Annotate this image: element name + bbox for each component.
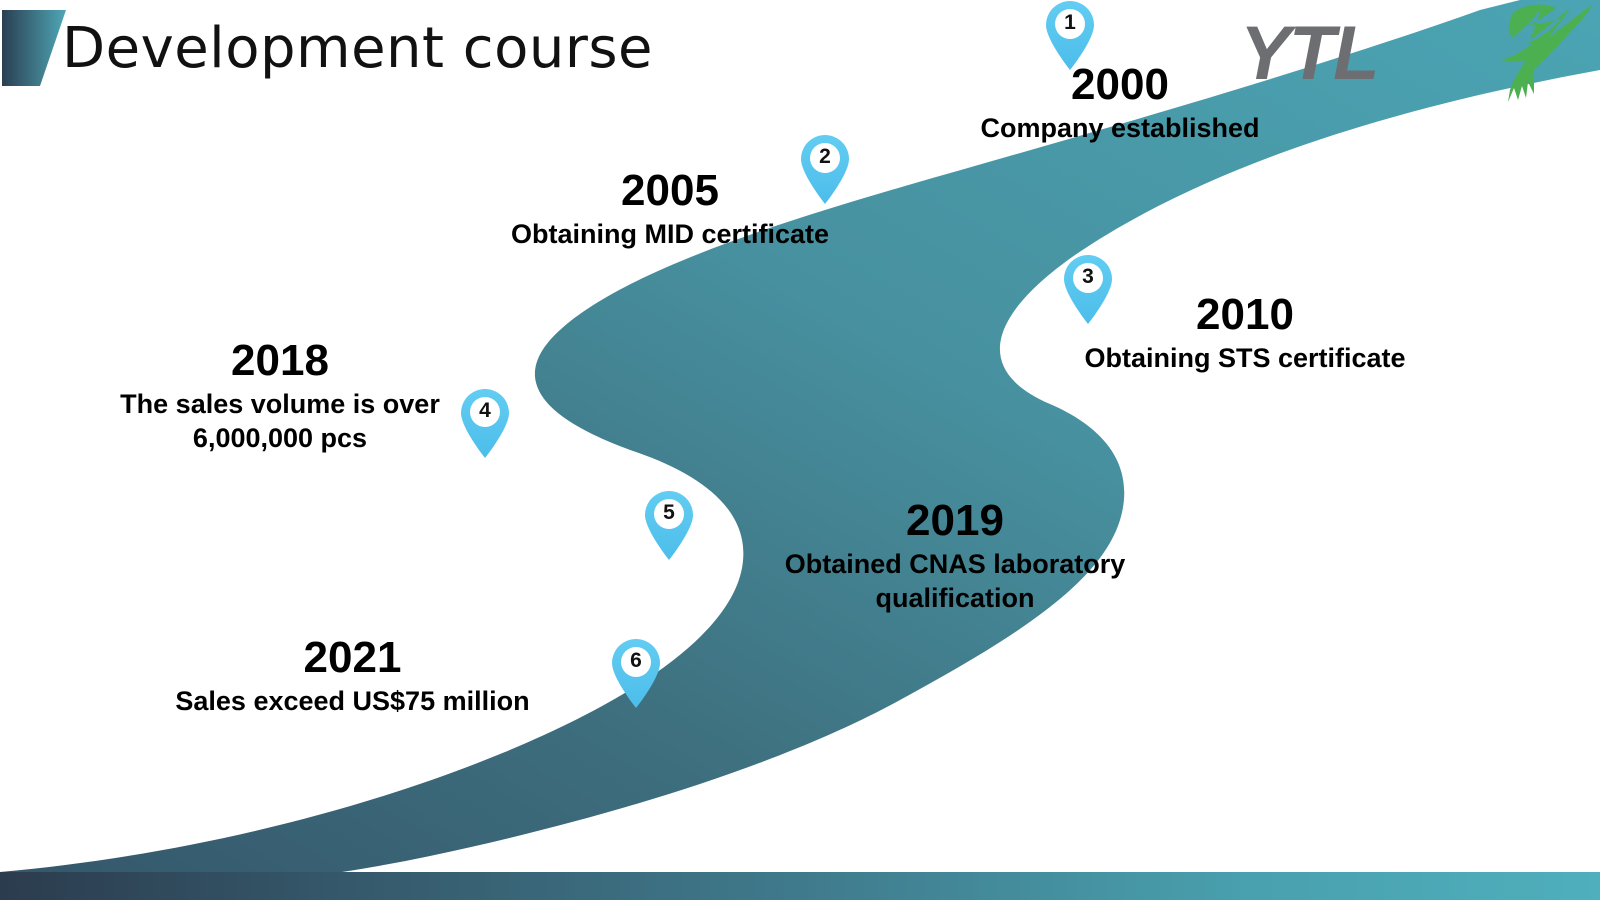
milestone-2000: 2000 Company established xyxy=(930,62,1310,146)
milestone-description: Sales exceed US$75 million xyxy=(145,685,560,719)
timeline-pin-4[interactable]: 4 xyxy=(457,388,513,460)
milestone-year: 2018 xyxy=(60,338,500,384)
milestone-2019: 2019 Obtained CNAS laboratory qualificat… xyxy=(755,498,1155,616)
milestone-description: Obtained CNAS laboratory qualification xyxy=(755,548,1155,616)
map-pin-icon xyxy=(1060,254,1116,326)
timeline-pin-6[interactable]: 6 xyxy=(608,638,664,710)
map-pin-icon xyxy=(608,638,664,710)
map-pin-icon xyxy=(1042,0,1098,72)
page-title: Development course xyxy=(62,16,653,81)
map-pin-icon xyxy=(797,134,853,206)
slide-canvas: Development course YTL 2000 Company esta… xyxy=(0,0,1600,900)
title-accent-shape xyxy=(0,8,68,88)
timeline-pin-3[interactable]: 3 xyxy=(1060,254,1116,326)
milestone-year: 2021 xyxy=(145,635,560,681)
timeline-pin-2[interactable]: 2 xyxy=(797,134,853,206)
map-pin-icon xyxy=(641,490,697,562)
map-pin-icon xyxy=(457,388,513,460)
milestone-2021: 2021 Sales exceed US$75 million xyxy=(145,635,560,719)
milestone-year: 2019 xyxy=(755,498,1155,544)
milestone-description: The sales volume is over 6,000,000 pcs xyxy=(60,388,500,456)
milestone-2018: 2018 The sales volume is over 6,000,000 … xyxy=(60,338,500,456)
bird-icon xyxy=(1452,0,1592,104)
timeline-pin-5[interactable]: 5 xyxy=(641,490,697,562)
milestone-description: Company established xyxy=(930,112,1310,146)
milestone-description: Obtaining MID certificate xyxy=(470,218,870,252)
footer-bar xyxy=(0,872,1600,900)
milestone-year: 2000 xyxy=(930,62,1310,108)
timeline-pin-1[interactable]: 1 xyxy=(1042,0,1098,72)
milestone-description: Obtaining STS certificate xyxy=(1050,342,1440,376)
